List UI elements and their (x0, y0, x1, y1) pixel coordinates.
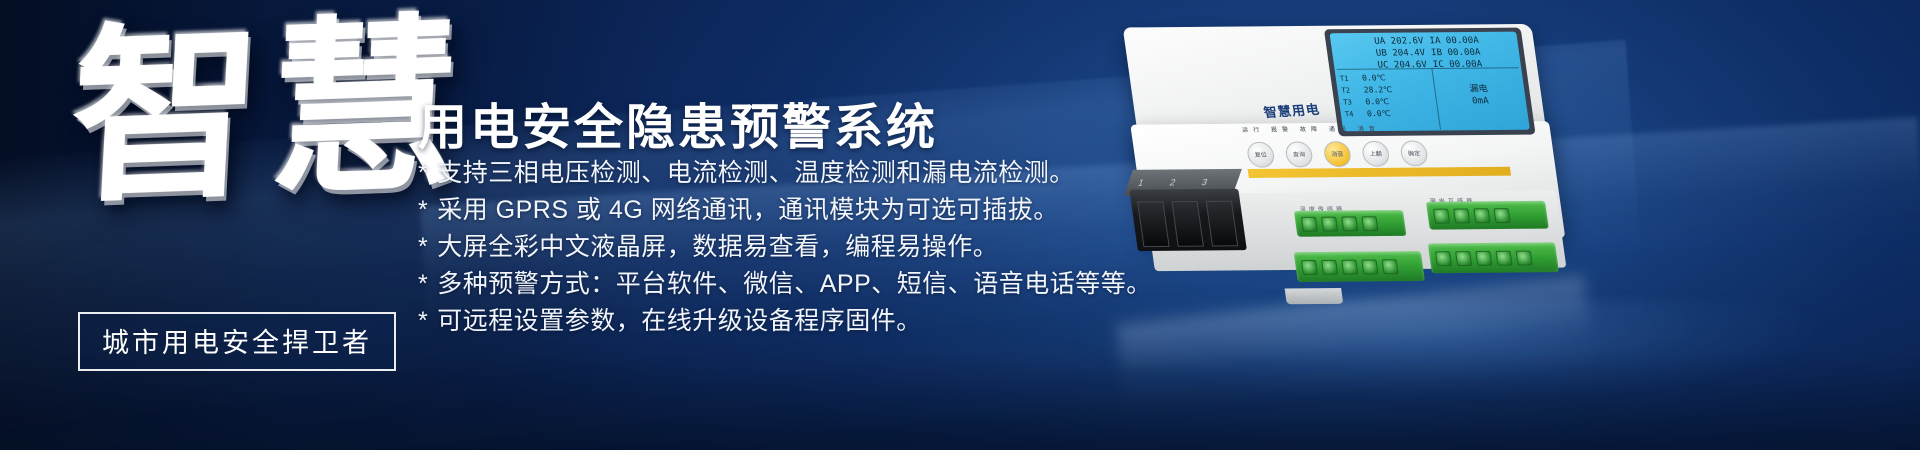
device-button-query[interactable]: 查询 (1284, 141, 1314, 167)
terminal-screw (1321, 259, 1338, 274)
terminal-screw (1341, 216, 1358, 231)
list-item: *大屏全彩中文液晶屏，数据易查看，编程易操作。 (418, 229, 1118, 266)
terminal-screw (1475, 250, 1492, 265)
terminal-screw (1516, 250, 1533, 265)
connector-pin (1206, 201, 1239, 247)
connector-pin (1171, 201, 1204, 247)
feature-list: *支持三相电压检测、电流检测、温度检测和漏电流检测。 *采用 GPRS 或 4G… (418, 155, 1118, 340)
list-item: *支持三相电压检测、电流检测、温度检测和漏电流检测。 (418, 155, 1118, 192)
page-title: 用电安全隐患预警系统 (418, 88, 938, 159)
terminal-screw (1341, 259, 1358, 274)
device-button-reset[interactable]: 复位 (1246, 142, 1276, 168)
lcd-current-readout: IA 00.00A IB 00.00A IC 00.00A (1429, 35, 1517, 71)
terminal-screw (1381, 259, 1398, 274)
terminal-screw (1321, 216, 1338, 231)
lcd-voltage-readout: UA 202.6V UB 204.4V UC 204.6V (1336, 35, 1428, 71)
green-terminal-block (1426, 201, 1549, 230)
lcd-leakage-readout: 漏电 0mA (1442, 83, 1518, 107)
terminal-screw (1435, 251, 1452, 266)
lcd-temperature-values: 0.0℃ 28.2℃ 0.0℃ 0.0℃ (1361, 72, 1396, 120)
black-connector-block (1129, 189, 1247, 251)
terminal-screw (1455, 251, 1472, 266)
bullet-marker-icon: * (418, 233, 428, 261)
bullet-marker-icon: * (418, 307, 428, 335)
list-item-text: 采用 GPRS 或 4G 网络通讯，通讯模块为可选可插拔。 (437, 196, 1058, 224)
list-item-text: 多种预警方式：平台软件、微信、APP、短信、语音电话等等。 (437, 270, 1152, 298)
green-terminal-block (1294, 210, 1407, 237)
terminal-screw (1453, 208, 1470, 223)
terminal-screw (1495, 250, 1512, 265)
lcd-screen: UA 202.6V UB 204.4V UC 204.6V IA 00.00A … (1330, 32, 1530, 132)
green-terminal-block (1294, 251, 1425, 282)
list-item-text: 大屏全彩中文液晶屏，数据易查看，编程易操作。 (437, 233, 998, 261)
terminal-screw (1301, 216, 1318, 231)
connector-pin (1137, 201, 1170, 247)
list-item: *多种预警方式：平台软件、微信、APP、短信、语音电话等等。 (418, 266, 1118, 303)
list-item-text: 支持三相电压检测、电流检测、温度检测和漏电流检测。 (437, 159, 1075, 187)
device-status-labels: 运行 报警 故障 通讯 消音 (1241, 123, 1455, 139)
terminal-screw (1301, 260, 1318, 275)
terminal-screw (1493, 208, 1510, 223)
device-button-row: 复位 查询 消音 上翻 确定 (1246, 140, 1466, 168)
terminal-screw (1361, 216, 1378, 231)
lcd-divider-vertical (1431, 68, 1441, 129)
promo-banner: 智慧 城市用电安全捍卫者 用电安全隐患预警系统 *支持三相电压检测、电流检测、温… (0, 0, 1920, 450)
terminal-screw (1361, 259, 1378, 274)
bullet-marker-icon: * (418, 196, 428, 224)
terminal-screw (1433, 208, 1450, 223)
tagline-box: 城市用电安全捍卫者 (78, 312, 396, 371)
bullet-marker-icon: * (418, 159, 428, 187)
green-terminal-block (1428, 242, 1559, 273)
tagline-text: 城市用电安全捍卫者 (102, 328, 372, 358)
device-din-clip (1285, 288, 1344, 304)
list-item-text: 可远程设置参数，在线升级设备程序固件。 (437, 307, 922, 335)
product-image-device: UA 202.6V UB 204.4V UC 204.6V IA 00.00A … (1079, 0, 1620, 377)
calligraphy-title: 智慧 (62, 11, 458, 304)
bullet-marker-icon: * (418, 270, 428, 298)
device-button-up[interactable]: 上翻 (1361, 141, 1391, 167)
device-button-confirm[interactable]: 确定 (1399, 140, 1429, 166)
device-button-mute[interactable]: 消音 (1322, 141, 1352, 167)
terminal-screw (1473, 208, 1490, 223)
list-item: *可远程设置参数，在线升级设备程序固件。 (418, 303, 1118, 340)
lcd-temperature-labels: T1 T2 T3 T4 (1339, 73, 1354, 121)
list-item: *采用 GPRS 或 4G 网络通讯，通讯模块为可选可插拔。 (418, 192, 1118, 229)
